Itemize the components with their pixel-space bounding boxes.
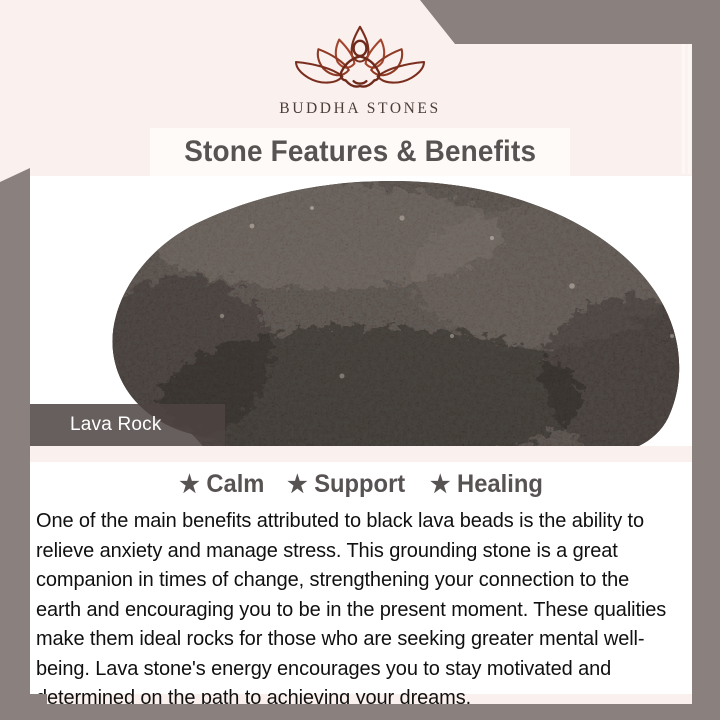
section-divider bbox=[30, 446, 692, 462]
frame-left-edge bbox=[0, 168, 30, 720]
page-title: Stone Features & Benefits bbox=[184, 135, 536, 169]
stone-photo-panel: Lava Rock bbox=[30, 176, 692, 446]
star-icon: ★ bbox=[179, 473, 199, 497]
feature-item-healing: ★ Healing bbox=[430, 470, 543, 499]
feature-item-calm: ★ Calm bbox=[179, 470, 264, 499]
section-title-band: Stone Features & Benefits bbox=[150, 128, 570, 176]
feature-label: Support bbox=[314, 470, 405, 499]
benefits-section: ★ Calm ★ Support ★ Healing One of the ma… bbox=[30, 462, 692, 694]
feature-list: ★ Calm ★ Support ★ Healing bbox=[30, 462, 692, 499]
feature-item-support: ★ Support bbox=[287, 470, 405, 499]
frame-bottom-edge bbox=[0, 704, 720, 720]
feature-label: Healing bbox=[457, 470, 543, 499]
brand-name: BUDDHA STONES bbox=[279, 100, 440, 118]
feature-label: Calm bbox=[206, 470, 264, 499]
frame-bottom-left-shade bbox=[0, 694, 47, 704]
infographic-page: BUDDHA STONES Stone Features & Benefits bbox=[0, 0, 720, 720]
star-icon: ★ bbox=[430, 473, 450, 497]
frame-right-edge bbox=[692, 0, 720, 720]
benefits-paragraph: One of the main benefits attributed to b… bbox=[36, 507, 676, 714]
star-icon: ★ bbox=[287, 473, 307, 497]
stone-name-label: Lava Rock bbox=[70, 414, 162, 436]
lotus-meditation-icon bbox=[280, 22, 440, 94]
photo-caption-band: Lava Rock bbox=[30, 404, 225, 446]
